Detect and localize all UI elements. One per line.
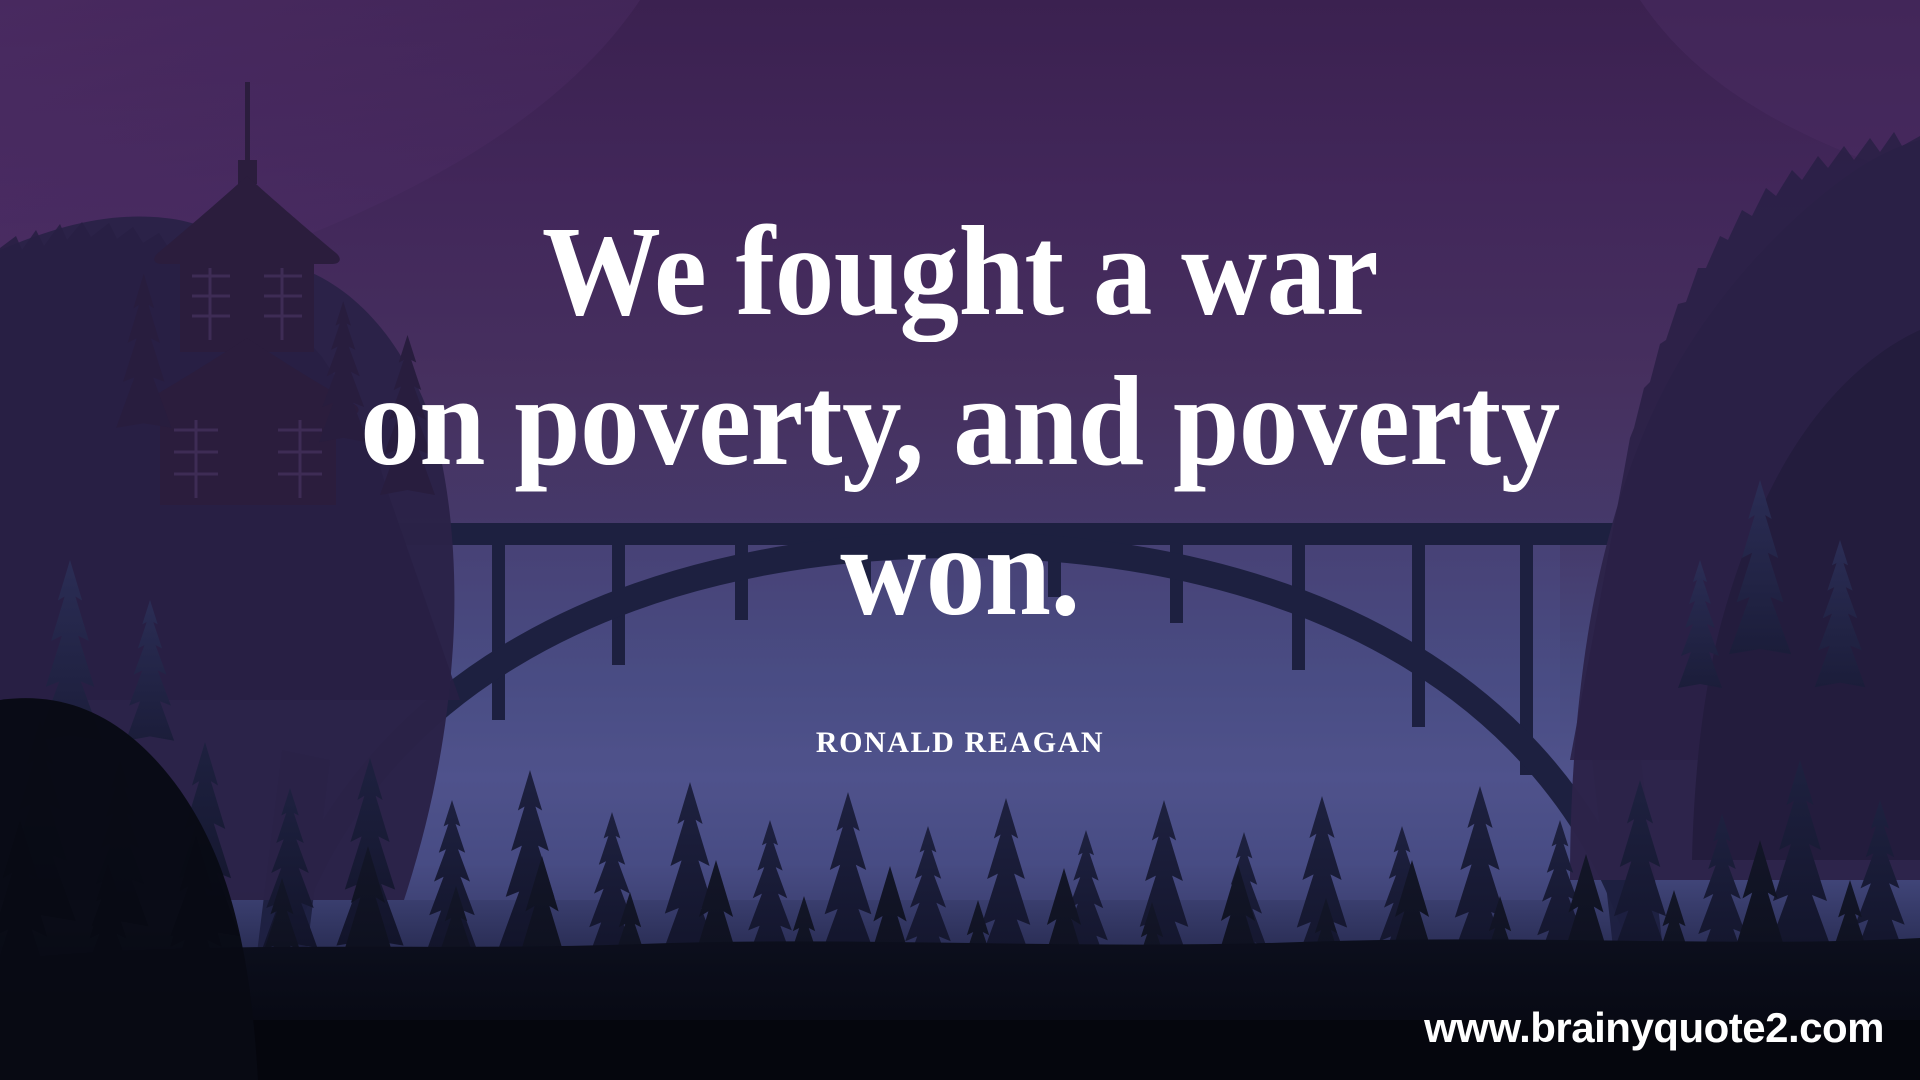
site-watermark: www.brainyquote2.com	[1424, 1004, 1884, 1052]
background-illustration	[0, 0, 1920, 1080]
quote-card: We fought a war on poverty, and poverty …	[0, 0, 1920, 1080]
